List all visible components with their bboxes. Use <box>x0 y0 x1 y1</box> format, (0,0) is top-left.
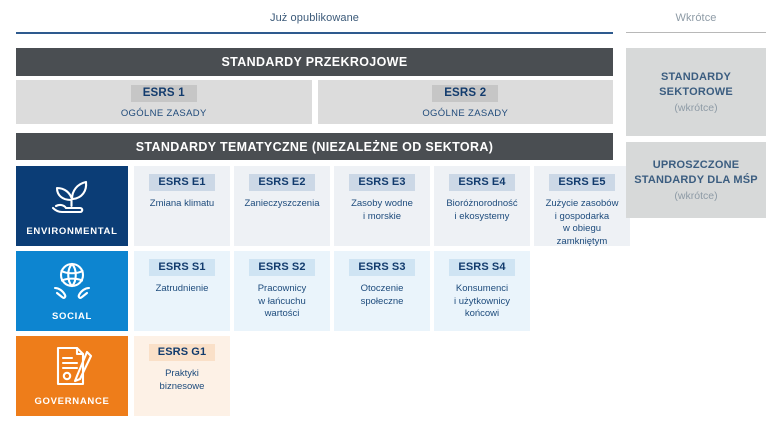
general-standard-subtitle: OGÓLNE ZASADY <box>121 108 207 119</box>
topic-card-esrs-e4[interactable]: ESRS E4Bioróżnorodność i ekosystemy <box>434 166 530 246</box>
topic-card-tag: ESRS G1 <box>149 344 215 361</box>
pillar-label: SOCIAL <box>52 311 92 322</box>
pillar-environmental[interactable]: ENVIRONMENTAL <box>16 166 128 246</box>
general-standard-subtitle: OGÓLNE ZASADY <box>422 108 508 119</box>
upcoming-column-rule <box>626 32 766 33</box>
cross-cutting-standards-band: STANDARDY PRZEKROJOWE <box>16 48 613 76</box>
topic-card-tag: ESRS E5 <box>549 174 614 191</box>
esrs-standards-diagram: Już opublikowane Wkrótce STANDARDY PRZEK… <box>0 0 780 438</box>
general-standard-block-1[interactable]: ESRS 1OGÓLNE ZASADY <box>16 80 312 124</box>
topic-card-esrs-e5[interactable]: ESRS E5Zużycie zasobów i gospodarka w ob… <box>534 166 630 246</box>
pillar-governance[interactable]: GOVERNANCE <box>16 336 128 416</box>
topical-standards-band: STANDARDY TEMATYCZNE (NIEZALEŻNE OD SEKT… <box>16 133 613 160</box>
topic-card-tag: ESRS E2 <box>249 174 314 191</box>
upcoming-panel-title: STANDARDY SEKTOROWE <box>659 70 733 100</box>
topic-card-description: Zatrudnienie <box>152 283 213 296</box>
upcoming-panel-1[interactable]: STANDARDY SEKTOROWE(wkrótce) <box>626 48 766 136</box>
topic-card-tag: ESRS E3 <box>349 174 414 191</box>
topic-card-description: Otoczenie społeczne <box>357 283 408 308</box>
topic-card-description: Zasoby wodne i morskie <box>347 198 417 223</box>
topic-card-tag: ESRS E1 <box>149 174 214 191</box>
topic-card-tag: ESRS S4 <box>449 259 514 276</box>
topic-card-tag: ESRS S3 <box>349 259 414 276</box>
topic-card-description: Pracownicy w łańcuchu wartości <box>254 283 311 321</box>
upcoming-column-label: Wkrótce <box>626 12 766 24</box>
topic-card-esrs-s1[interactable]: ESRS S1Zatrudnienie <box>134 251 230 331</box>
topic-card-tag: ESRS E4 <box>449 174 514 191</box>
topic-card-esrs-s4[interactable]: ESRS S4Konsumenci i użytkownicy końcowi <box>434 251 530 331</box>
upcoming-panel-2[interactable]: UPROSZCZONE STANDARDY DLA MŚP(wkrótce) <box>626 142 766 218</box>
topic-card-description: Praktyki biznesowe <box>156 368 209 393</box>
topic-card-description: Zużycie zasobów i gospodarka w obiegu za… <box>542 198 623 248</box>
topic-card-esrs-g1[interactable]: ESRS G1Praktyki biznesowe <box>134 336 230 416</box>
topic-card-description: Konsumenci i użytkownicy końcowi <box>450 283 514 321</box>
general-standard-tag: ESRS 1 <box>131 85 197 102</box>
globe-in-hands-icon <box>16 251 128 311</box>
document-with-pen-icon <box>16 336 128 396</box>
published-column-label: Już opublikowane <box>16 12 613 24</box>
upcoming-panel-note: (wkrótce) <box>674 102 717 114</box>
pillar-label: GOVERNANCE <box>34 396 109 407</box>
general-standard-tag: ESRS 2 <box>432 85 498 102</box>
topic-card-esrs-e2[interactable]: ESRS E2Zanieczyszczenia <box>234 166 330 246</box>
plant-in-hand-icon <box>16 166 128 226</box>
topic-card-esrs-e1[interactable]: ESRS E1Zmiana klimatu <box>134 166 230 246</box>
topic-card-esrs-e3[interactable]: ESRS E3Zasoby wodne i morskie <box>334 166 430 246</box>
topic-card-esrs-s3[interactable]: ESRS S3Otoczenie społeczne <box>334 251 430 331</box>
upcoming-panel-note: (wkrótce) <box>674 190 717 202</box>
upcoming-panel-title: UPROSZCZONE STANDARDY DLA MŚP <box>634 158 758 188</box>
topic-card-description: Bioróżnorodność i ekosystemy <box>442 198 521 223</box>
pillar-social[interactable]: SOCIAL <box>16 251 128 331</box>
topic-card-tag: ESRS S1 <box>149 259 214 276</box>
general-standard-block-2[interactable]: ESRS 2OGÓLNE ZASADY <box>318 80 614 124</box>
pillar-label: ENVIRONMENTAL <box>26 226 117 237</box>
topic-card-esrs-s2[interactable]: ESRS S2Pracownicy w łańcuchu wartości <box>234 251 330 331</box>
published-column-rule <box>16 32 613 34</box>
topic-card-description: Zanieczyszczenia <box>241 198 324 211</box>
topic-card-tag: ESRS S2 <box>249 259 314 276</box>
topic-card-description: Zmiana klimatu <box>146 198 218 211</box>
